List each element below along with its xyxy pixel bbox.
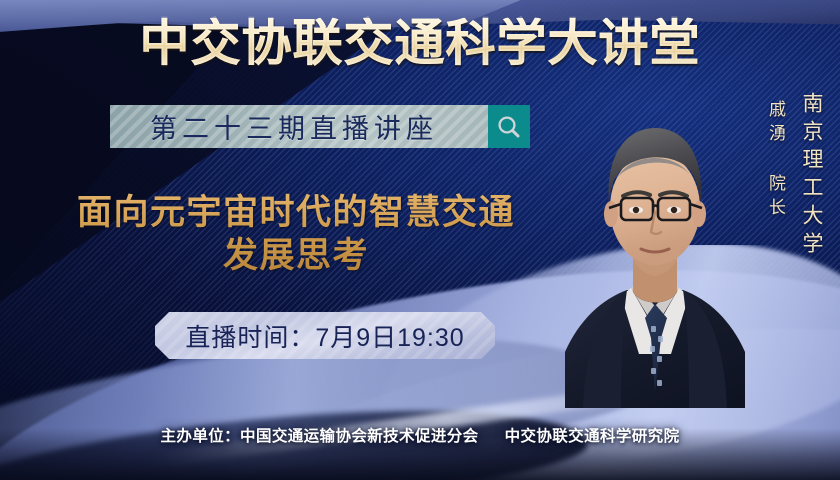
speaker-portrait <box>565 92 745 408</box>
footer-organizer-label: 主办单位： <box>161 428 241 445</box>
lecture-title-line-1: 面向元宇宙时代的智慧交通 <box>36 192 556 235</box>
footer-organizers: 主办单位：中国交通运输协会新技术促进分会中交协联交通科学研究院 <box>0 424 840 446</box>
poster-canvas: 中交协联交通科学大讲堂 中交协联交通科学大讲堂 第二十三期直播讲座 面向元宇宙时… <box>0 0 840 480</box>
episode-banner: 第二十三期直播讲座 <box>110 105 530 148</box>
lecture-title-line-2: 发展思考 <box>36 235 556 278</box>
speaker-institution: 南京理工大学 <box>796 92 826 260</box>
broadcast-time-badge: 直播时间：7月9日19:30 <box>155 312 495 359</box>
main-title: 中交协联交通科学大讲堂 <box>0 18 840 68</box>
broadcast-time-label: 直播时间：7月9日19:30 <box>185 318 464 354</box>
footer-organizer-2: 中交协联交通科学研究院 <box>505 428 680 445</box>
episode-label: 第二十三期直播讲座 <box>110 107 488 146</box>
footer-organizer-1: 中国交通运输协会新技术促进分会 <box>240 428 479 445</box>
search-icon[interactable] <box>488 105 530 148</box>
speaker-name-title: 戚湧 院长 <box>763 100 788 222</box>
lecture-title: 面向元宇宙时代的智慧交通 发展思考 <box>36 192 556 277</box>
